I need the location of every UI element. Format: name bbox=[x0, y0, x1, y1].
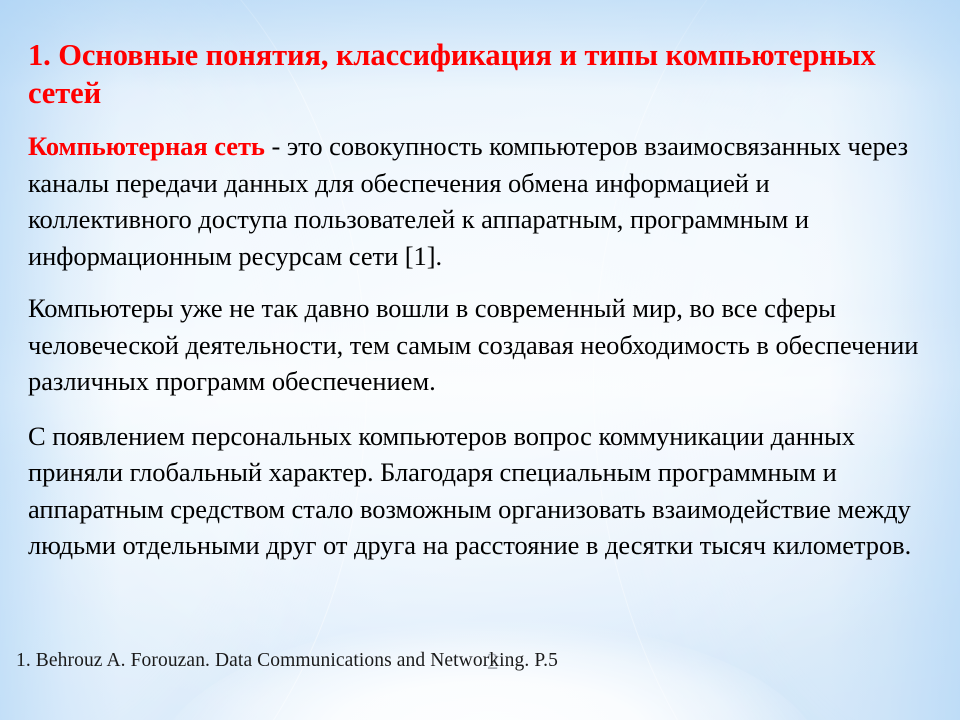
body-placeholder: Компьютерная сеть - это совокупность ком… bbox=[28, 128, 934, 564]
paragraph-definition: Компьютерная сеть - это совокупность ком… bbox=[28, 128, 934, 274]
slide-content: 1. Основные понятия, классификация и тип… bbox=[0, 0, 960, 720]
paragraph-communication: С появлением персональных компьютеров во… bbox=[28, 418, 934, 564]
title-placeholder: 1. Основные понятия, классификация и тип… bbox=[28, 36, 928, 112]
presentation-slide: 1. Основные понятия, классификация и тип… bbox=[0, 0, 960, 720]
definition-term: Компьютерная сеть bbox=[28, 131, 265, 161]
paragraph-history: Компьютеры уже не так давно вошли в совр… bbox=[28, 290, 934, 400]
footnote-reference: 1. Behrouz A. Forouzan. Data Communicati… bbox=[16, 648, 558, 674]
slide-title: 1. Основные понятия, классификация и тип… bbox=[28, 36, 928, 112]
